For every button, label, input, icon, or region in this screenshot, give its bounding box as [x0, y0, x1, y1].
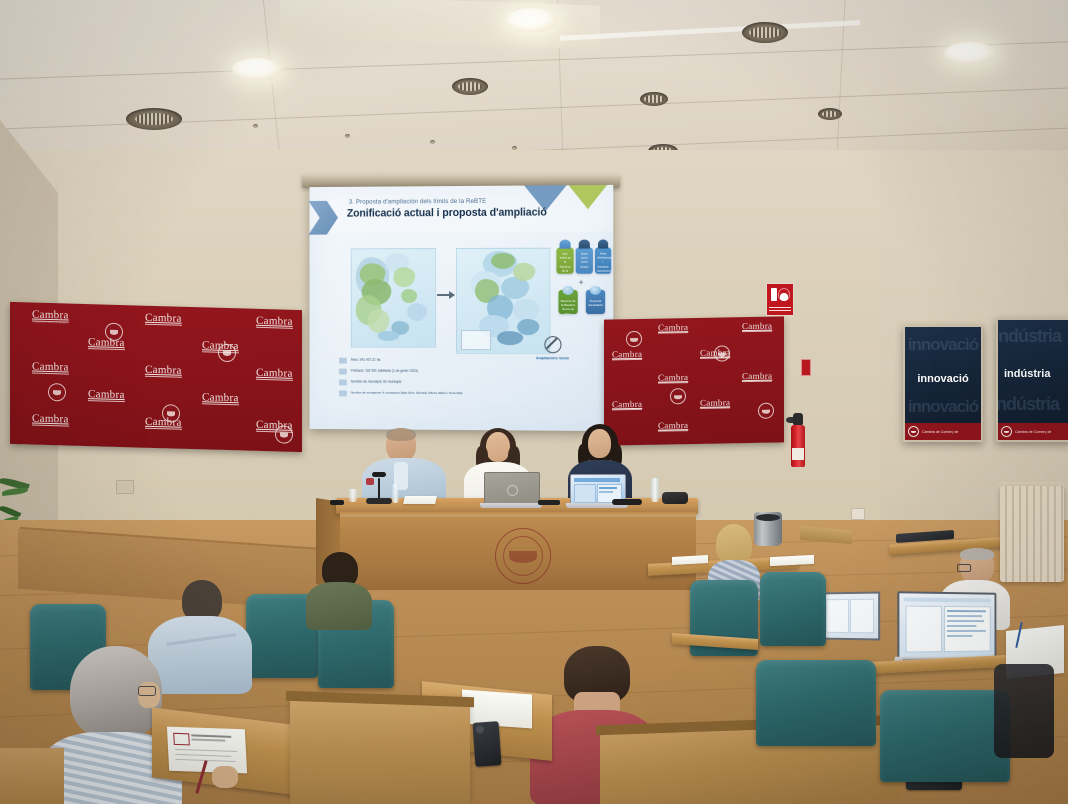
hair	[716, 524, 752, 564]
wall-outlet[interactable]	[851, 508, 865, 520]
hair	[960, 548, 994, 560]
legend-row-0: Àrea: 341 437,21 ha	[351, 358, 381, 362]
handout-paper	[167, 727, 247, 774]
banner-word: Cambra	[700, 347, 730, 359]
cambra-seal-logo	[758, 403, 774, 419]
banner-word: Cambra	[256, 367, 293, 381]
small-red-sign-icon	[801, 359, 811, 376]
seat[interactable]	[880, 690, 1010, 782]
cambra-banner-left: CambraCambra de Comerç de Tortosa Cambra…	[10, 302, 302, 452]
poster-word: indústria	[1004, 368, 1068, 380]
prohibition-caption: Ampliacions noves	[506, 356, 599, 360]
remote-control	[330, 500, 344, 505]
legend-icon-1	[339, 369, 347, 375]
banner-subtitle: Cambra de Comerç de Tortosa	[32, 322, 69, 325]
attendee-olive-top	[304, 552, 374, 628]
poster-ghost-text: indústria	[996, 326, 1068, 347]
poster-footer: Cambra de Comerç de	[998, 423, 1068, 440]
slide-card-0: Nou àmbit de la Reserva de la Biosfera	[556, 248, 573, 274]
banner-word: Cambra	[612, 349, 642, 361]
seat[interactable]	[760, 572, 826, 646]
banner-word: Cambra	[88, 388, 125, 402]
poster-ghost-text: innovació	[905, 335, 981, 355]
banner-word: Cambra	[202, 391, 239, 405]
prohibition-icon	[544, 336, 561, 353]
conference-room-photo: 3. Proposta d'ampliación dels límits de …	[0, 0, 1068, 804]
water-bottle	[651, 478, 659, 502]
cambra-seal-logo	[670, 388, 686, 404]
slide-card-1-label: Zona nucli i zona tampó	[578, 252, 591, 269]
ceiling-light-off	[126, 108, 182, 130]
map-legend-box	[461, 330, 491, 350]
slide-card-2-label: Àrea d'influència i transició socioeconò…	[597, 251, 609, 272]
banner-word: Cambra	[202, 339, 239, 353]
smartphone[interactable]	[472, 721, 501, 767]
glasses-icon	[957, 564, 971, 572]
slide-triangle-green-icon	[569, 185, 608, 209]
banner-word: Cambra	[658, 420, 688, 432]
ceiling-light-on	[944, 42, 996, 64]
column-radiator	[1000, 486, 1064, 582]
banner-word: Cambra	[145, 416, 182, 430]
ceiling-light-off	[640, 92, 668, 106]
banner-word: Cambra	[256, 419, 293, 433]
seat-back-panel	[0, 748, 64, 804]
banner-word: Cambra	[145, 364, 182, 378]
seat-back-panel	[290, 700, 470, 804]
slide-card-0-icon	[560, 240, 571, 249]
banner-word: Cambra	[658, 322, 688, 334]
map-proposed-expansion	[456, 248, 550, 355]
poster-footer: Cambra de Comerç de	[905, 423, 981, 440]
cambra-seal-logo	[1001, 426, 1012, 437]
banner-word: Cambra	[32, 361, 69, 375]
slide-card-1-icon	[579, 239, 590, 248]
water-glass	[349, 489, 357, 502]
banner-word: Cambra	[88, 336, 125, 350]
ceiling	[0, 0, 1068, 175]
hp-logo-icon	[507, 485, 518, 496]
slide-card-4-icon	[590, 286, 601, 295]
banner-word: Cambra	[32, 309, 69, 323]
slide-card-3-label: Reserva de la Biosfera Terres de l'Ebre	[561, 299, 576, 314]
map-arrow-icon	[437, 294, 454, 296]
poster-ghost-text: innovació	[905, 397, 981, 417]
laptop-secondary-screen	[819, 591, 880, 640]
badge	[366, 478, 374, 485]
map-current-zoning	[351, 248, 436, 348]
slide-title: Zonificació actual i proposta d'ampliaci…	[347, 206, 547, 219]
legend-row-2: Nombre de municipis: 52 municipis	[351, 380, 402, 384]
wall-switch-plate[interactable]	[116, 480, 134, 494]
handout-logo	[173, 733, 190, 746]
poster-industria: indústria indústria indústria www.cambra…	[996, 318, 1068, 442]
ceiling-light-off	[818, 108, 842, 120]
slide-card-0-label: Nou àmbit de la Reserva de la Biosfera	[558, 252, 571, 274]
backpack	[994, 664, 1054, 758]
cable-bundle	[538, 500, 560, 505]
laptop-center-lid	[484, 472, 540, 506]
poster-footer-text: Cambra de Comerç de	[922, 430, 958, 434]
hand	[212, 766, 238, 788]
slide-card-2-icon	[598, 239, 608, 248]
banner-word: Cambra	[145, 312, 182, 326]
banner-word: Cambra	[32, 413, 69, 427]
poster-innovacio: innovació innovació innovació www.cambra…	[903, 325, 983, 442]
ceiling-seam	[560, 20, 860, 41]
laptop-center-base	[480, 503, 542, 508]
banner-word: Cambra	[658, 372, 688, 384]
legend-icon-0	[339, 358, 347, 364]
cable-bundle	[612, 499, 642, 505]
slide-card-4-label: Proposta d'ampliació	[588, 299, 603, 307]
banner-word: Cambra	[700, 397, 730, 409]
microphone-head	[372, 472, 386, 477]
fire-extinguisher-sign-icon	[766, 283, 794, 316]
ceiling-light-off	[742, 22, 788, 43]
bag	[662, 492, 688, 504]
slide-card-1: Zona nucli i zona tampó	[576, 248, 593, 274]
fire-extinguisher	[791, 425, 805, 467]
slide-card-3-icon	[563, 286, 574, 295]
documents	[403, 496, 437, 504]
slide-card-2: Àrea d'influència i transició socioeconò…	[595, 247, 611, 273]
glasses-icon	[138, 686, 156, 696]
banner-word: Cambra	[742, 321, 772, 333]
projection-screen: 3. Proposta d'ampliación dels límits de …	[310, 185, 614, 431]
slide-eyebrow: 3. Proposta d'ampliación dels límits de …	[349, 198, 487, 206]
cambra-seal-logo	[626, 331, 642, 347]
laptop-audience-screen	[897, 591, 996, 661]
legend-icon-2	[339, 379, 347, 385]
cambra-seal-logo	[48, 383, 66, 402]
extinguisher-label	[792, 448, 804, 460]
legend-row-1: Població: 192 391 habitants (1 de gener …	[351, 369, 418, 373]
camera-lens-icon	[476, 725, 485, 734]
banner-word: Cambra	[256, 315, 293, 329]
ceiling-light-on	[506, 8, 558, 32]
poster-footer-text: Cambra de Comerç de	[1015, 430, 1051, 434]
cambra-seal-logo	[908, 426, 919, 437]
institution-seal	[495, 528, 551, 584]
seat[interactable]	[756, 660, 876, 746]
ceiling-light-off	[452, 78, 488, 95]
banner-word: Cambra	[742, 371, 772, 383]
poster-word: innovació	[905, 373, 981, 385]
poster-ghost-text: indústria	[996, 394, 1068, 415]
slide-plus-sign: +	[579, 278, 584, 287]
hair	[386, 428, 416, 441]
legend-icon-3	[339, 390, 347, 396]
legend-row-3: Nombre de comarques: 4 comarques (Baix E…	[351, 390, 463, 395]
banner-word: Cambra	[612, 399, 642, 411]
microphone-base	[366, 498, 392, 504]
water-bottle	[392, 484, 399, 503]
ceiling-light-on	[232, 58, 282, 80]
